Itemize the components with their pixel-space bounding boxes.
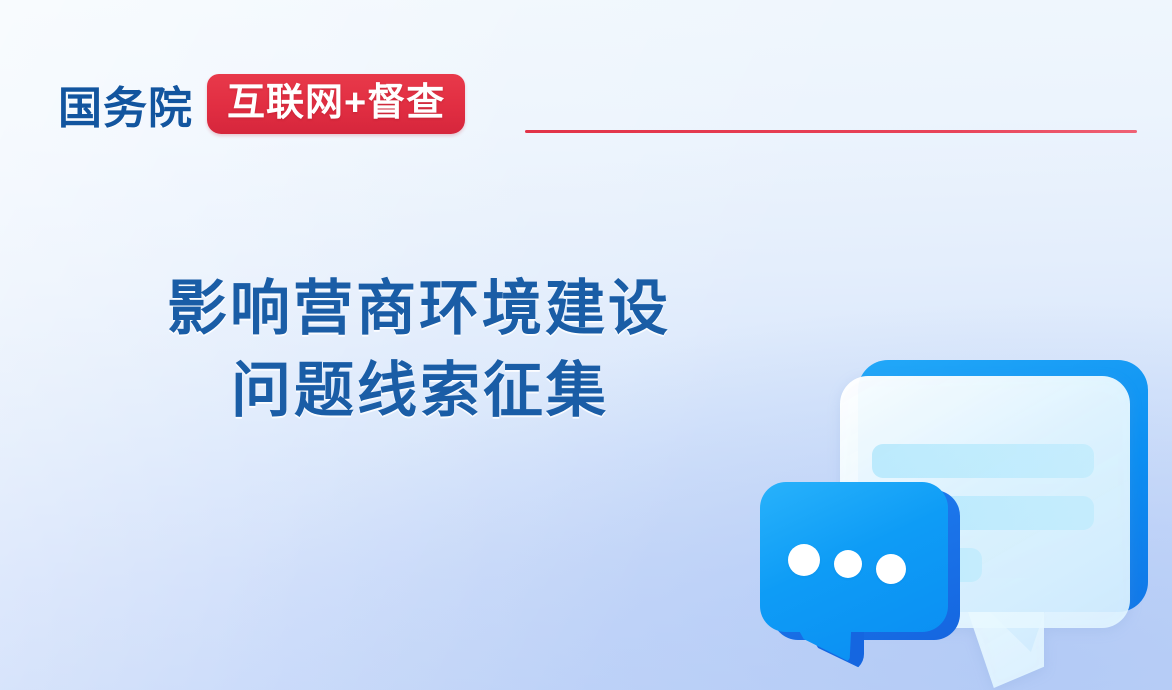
page-title-line-1: 影响营商环境建设	[0, 268, 880, 350]
organization-name: 国务院	[58, 86, 193, 134]
chat-bubbles-illustration	[752, 348, 1152, 678]
page-title-line-2: 问题线索征集	[0, 350, 880, 432]
header-divider-line	[525, 130, 1137, 133]
typing-dot-icon	[876, 554, 906, 584]
typing-dot-icon	[834, 550, 862, 578]
bubble-large-text-bar	[872, 444, 1094, 478]
header-logo-bar: 国务院 互联网+督查	[58, 60, 465, 134]
message-bubble-small	[760, 482, 972, 672]
page-title: 影响营商环境建设 问题线索征集	[0, 268, 880, 432]
bubble-large-tail	[968, 612, 1044, 688]
program-badge: 互联网+督查	[207, 74, 465, 134]
program-badge-label: 互联网+督查	[227, 83, 445, 123]
bubble-small-body	[760, 482, 948, 632]
banner-poster: 国务院 互联网+督查 影响营商环境建设 问题线索征集	[0, 0, 1172, 690]
typing-dot-icon	[788, 544, 820, 576]
